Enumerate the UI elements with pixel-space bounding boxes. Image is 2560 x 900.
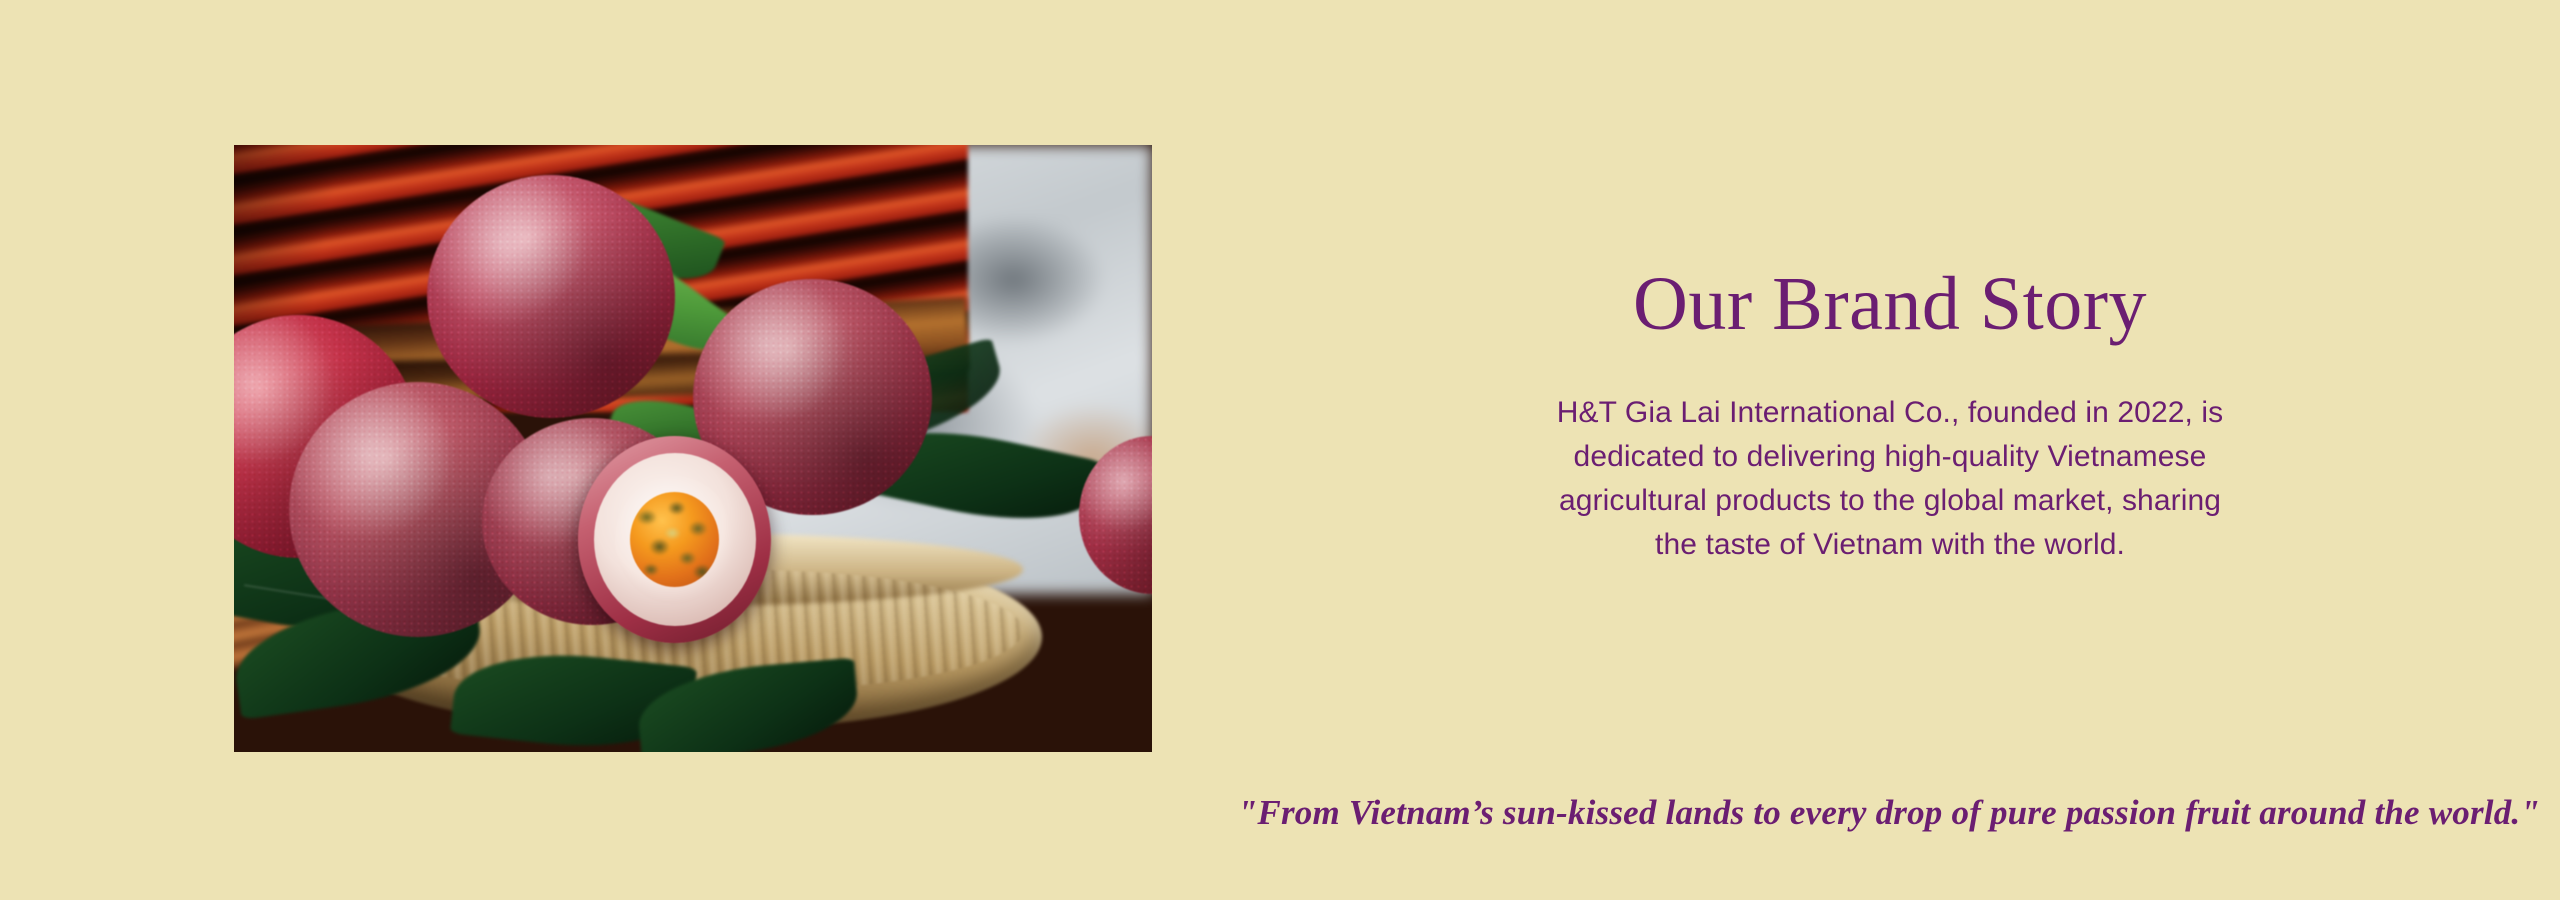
passion-fruit-photo xyxy=(234,145,1152,752)
halved-passion-fruit xyxy=(578,436,771,642)
paragraph-line-2: dedicated to delivering high-quality Vie… xyxy=(1390,435,2390,479)
brand-story-paragraph: H&T Gia Lai International Co., founded i… xyxy=(1390,345,2390,567)
passion-fruit-top-center xyxy=(427,175,675,418)
paragraph-line-1: H&T Gia Lai International Co., founded i… xyxy=(1390,391,2390,435)
brand-tagline-quote: "From Vietnam’s sun-kissed lands to ever… xyxy=(0,790,2540,836)
fruit-pulp-seeds xyxy=(630,492,719,587)
paragraph-line-4: the taste of Vietnam with the world. xyxy=(1390,523,2390,567)
brand-story-slide: Our Brand Story H&T Gia Lai Internationa… xyxy=(0,0,2560,900)
page-title: Our Brand Story xyxy=(1390,145,2390,345)
paragraph-line-3: agricultural products to the global mark… xyxy=(1390,479,2390,523)
brand-story-text-column: Our Brand Story H&T Gia Lai Internationa… xyxy=(1390,145,2390,567)
